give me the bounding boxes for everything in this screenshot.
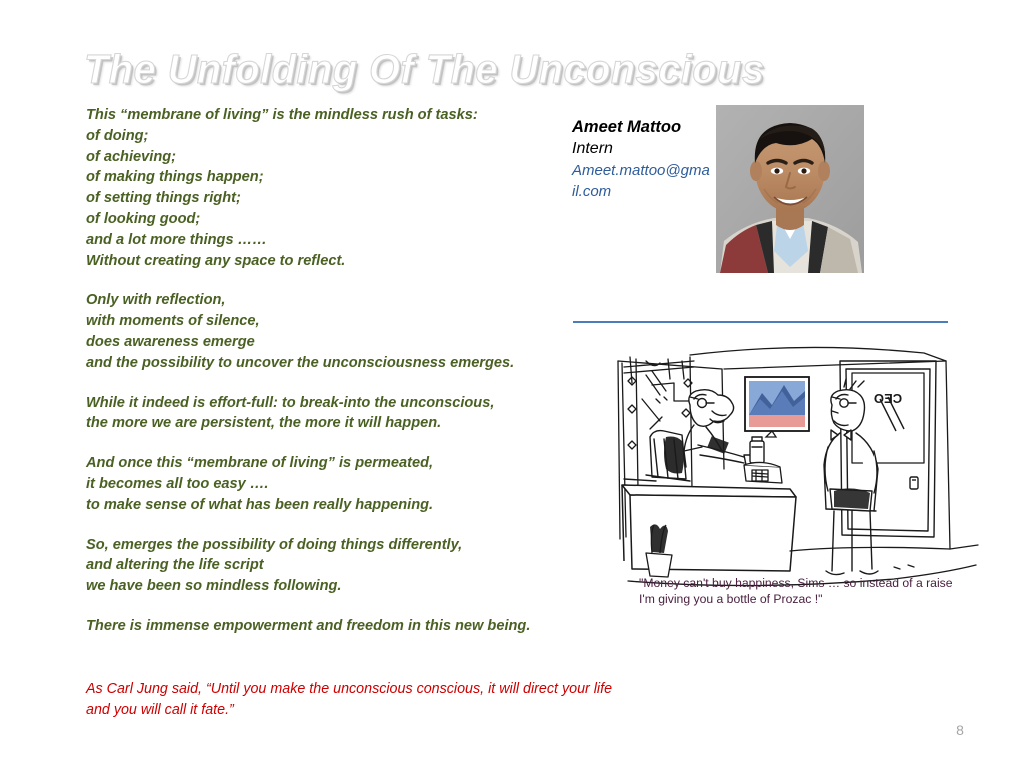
text-line: does awareness emerge bbox=[86, 332, 556, 353]
text-line: of looking good; bbox=[86, 209, 556, 230]
text-line: So, emerges the possibility of doing thi… bbox=[86, 535, 556, 556]
text-line: of doing; bbox=[86, 126, 556, 147]
paragraph: Only with reflection, with moments of si… bbox=[86, 290, 556, 373]
text-line: While it indeed is effort-full: to break… bbox=[86, 393, 556, 414]
paragraph: And once this “membrane of living” is pe… bbox=[86, 453, 556, 515]
section-divider bbox=[573, 321, 948, 323]
page-title: The Unfolding Of The Unconscious bbox=[84, 46, 765, 93]
contact-block: Ameet Mattoo Intern Ameet.mattoo@gmail.c… bbox=[572, 116, 712, 202]
text-line: of setting things right; bbox=[86, 188, 556, 209]
text-line: of achieving; bbox=[86, 147, 556, 168]
text-line: And once this “membrane of living” is pe… bbox=[86, 453, 556, 474]
page-number: 8 bbox=[948, 722, 972, 738]
text-line: the more we are persistent, the more it … bbox=[86, 413, 556, 434]
contact-role: Intern bbox=[572, 138, 712, 160]
text-line: Only with reflection, bbox=[86, 290, 556, 311]
text-line: with moments of silence, bbox=[86, 311, 556, 332]
cartoon-caption: "Money can't buy happiness, Sims … so in… bbox=[639, 576, 984, 607]
text-line: to make sense of what has been really ha… bbox=[86, 495, 556, 516]
text-line: of making things happen; bbox=[86, 167, 556, 188]
slide: The Unfolding Of The Unconscious This “m… bbox=[0, 0, 1024, 768]
text-line: it becomes all too easy …. bbox=[86, 474, 556, 495]
paragraph: There is immense empowerment and freedom… bbox=[86, 616, 556, 637]
text-line: I'm giving you a bottle of Prozac !" bbox=[639, 592, 984, 608]
text-line: This “membrane of living” is the mindles… bbox=[86, 105, 556, 126]
text-line: we have been so mindless following. bbox=[86, 576, 556, 597]
paragraph: While it indeed is effort-full: to break… bbox=[86, 393, 556, 435]
body-text-column: This “membrane of living” is the mindles… bbox=[86, 105, 556, 637]
paragraph: So, emerges the possibility of doing thi… bbox=[86, 535, 556, 597]
text-line: and a lot more things …… bbox=[86, 230, 556, 251]
ceo-door-label: CEO bbox=[874, 391, 902, 406]
carl-jung-quote: As Carl Jung said, “Until you make the u… bbox=[86, 679, 706, 721]
paragraph: This “membrane of living” is the mindles… bbox=[86, 105, 556, 271]
text-line: "Money can't buy happiness, Sims … so in… bbox=[639, 576, 984, 592]
text-line: There is immense empowerment and freedom… bbox=[86, 616, 556, 637]
text-line: Without creating any space to reflect. bbox=[86, 251, 556, 272]
avatar bbox=[716, 105, 864, 273]
cartoon-image: CEO bbox=[594, 339, 988, 622]
contact-name: Ameet Mattoo bbox=[572, 116, 712, 138]
text-line: and you will call it fate.” bbox=[86, 700, 706, 721]
portrait-photo bbox=[716, 105, 864, 273]
text-line: and altering the life script bbox=[86, 555, 556, 576]
text-line: As Carl Jung said, “Until you make the u… bbox=[86, 679, 706, 700]
text-line: and the possibility to uncover the uncon… bbox=[86, 353, 556, 374]
contact-email[interactable]: Ameet.mattoo@gmail.com bbox=[572, 160, 712, 202]
